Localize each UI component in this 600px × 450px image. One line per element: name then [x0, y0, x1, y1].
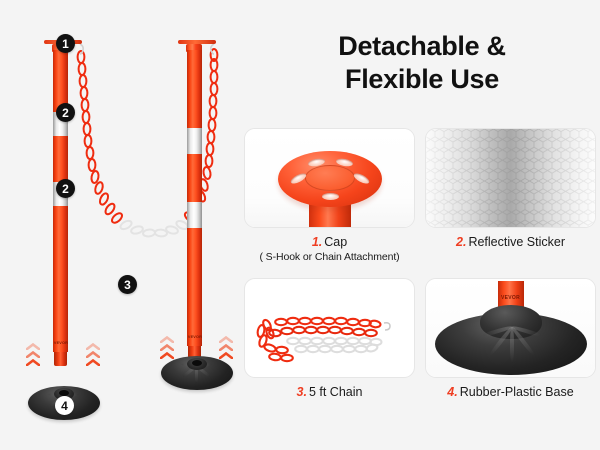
feature-number-3: 3. — [297, 385, 307, 399]
honeycomb-texture — [426, 129, 596, 228]
delineator-post-left: VEVOR — [48, 40, 78, 400]
feature-card-row-bottom: 3.5 ft Chain VEVOR — [244, 278, 596, 400]
cap-center-ring — [305, 165, 355, 191]
cap-slot — [352, 171, 370, 185]
feature-subtitle-1: ( S-Hook or Chain Attachment) — [244, 251, 415, 264]
post-body-middle-left — [53, 136, 68, 182]
rubber-base-photo: VEVOR — [426, 279, 595, 377]
cap-photo — [245, 129, 414, 227]
cap-disc — [278, 151, 382, 207]
feature-card-chain-caption: 3.5 ft Chain — [244, 384, 415, 400]
feature-number-4: 4. — [447, 385, 457, 399]
feature-title-3: 5 ft Chain — [309, 385, 363, 399]
feature-card-chain[interactable]: 3.5 ft Chain — [244, 278, 415, 400]
callout-badge-2-lower: 2 — [56, 179, 75, 198]
detach-arrows-left-outer — [26, 343, 40, 366]
headline-line-2: Flexible Use — [254, 63, 590, 96]
page-title: Detachable & Flexible Use — [254, 30, 590, 96]
headline-line-1: Detachable & — [338, 31, 505, 61]
cap-slot — [322, 193, 339, 200]
info-panel: Detachable & Flexible Use — [240, 0, 600, 450]
vevor-logo-right: VEVOR — [186, 334, 205, 339]
feature-title-2: Reflective Sticker — [468, 235, 565, 249]
feature-card-row-top: 1.Cap ( S-Hook or Chain Attachment) — [244, 128, 596, 264]
post-body-upper-right — [187, 50, 202, 128]
base-socket-right — [192, 360, 202, 366]
feature-card-rubber-base[interactable]: VEVOR 4.Rubber-Plastic Base — [425, 278, 596, 400]
feature-card-rubber-base-image: VEVOR — [425, 278, 596, 378]
callout-badge-1: 1 — [56, 34, 75, 53]
base-photo-rib — [510, 327, 514, 363]
feature-card-reflective-sticker[interactable]: 2.Reflective Sticker — [425, 128, 596, 264]
callout-badge-3: 3 — [118, 275, 137, 294]
reflective-band-upper-right — [187, 128, 202, 154]
feature-card-cap-image — [244, 128, 415, 228]
feature-number-2: 2. — [456, 235, 466, 249]
reflective-tape-photo — [426, 129, 595, 227]
callout-badge-4: 4 — [55, 396, 74, 415]
infographic-canvas: VEVOR — [0, 0, 600, 450]
feature-card-grid: 1.Cap ( S-Hook or Chain Attachment) — [244, 128, 596, 408]
feature-number-1: 1. — [312, 235, 322, 249]
feature-card-reflective-sticker-caption: 2.Reflective Sticker — [425, 234, 596, 250]
reflective-band-lower-right — [187, 202, 202, 228]
vevor-logo-card: VEVOR — [501, 295, 520, 301]
feature-card-reflective-sticker-image — [425, 128, 596, 228]
callout-badge-2-upper: 2 — [56, 103, 75, 122]
delineator-post-right: VEVOR — [182, 40, 212, 370]
post-body-middle-right — [187, 154, 202, 202]
feature-card-rubber-base-caption: 4.Rubber-Plastic Base — [425, 384, 596, 400]
coiled-chain-photo — [245, 279, 415, 378]
feature-card-chain-image — [244, 278, 415, 378]
post-body-lower-left — [53, 206, 68, 352]
feature-card-cap-caption: 1.Cap ( S-Hook or Chain Attachment) — [244, 234, 415, 264]
rubber-base-right — [161, 356, 233, 390]
detach-arrows-left-inner — [86, 343, 100, 366]
feature-card-cap[interactable]: 1.Cap ( S-Hook or Chain Attachment) — [244, 128, 415, 264]
post-body-lower-right — [187, 228, 202, 346]
vevor-logo-left: VEVOR — [52, 340, 71, 345]
product-scene: VEVOR — [0, 0, 240, 450]
cap-slot — [289, 171, 307, 185]
post-foot-left — [54, 352, 67, 366]
feature-title-4: Rubber-Plastic Base — [460, 385, 574, 399]
feature-title-1: Cap — [324, 235, 347, 249]
